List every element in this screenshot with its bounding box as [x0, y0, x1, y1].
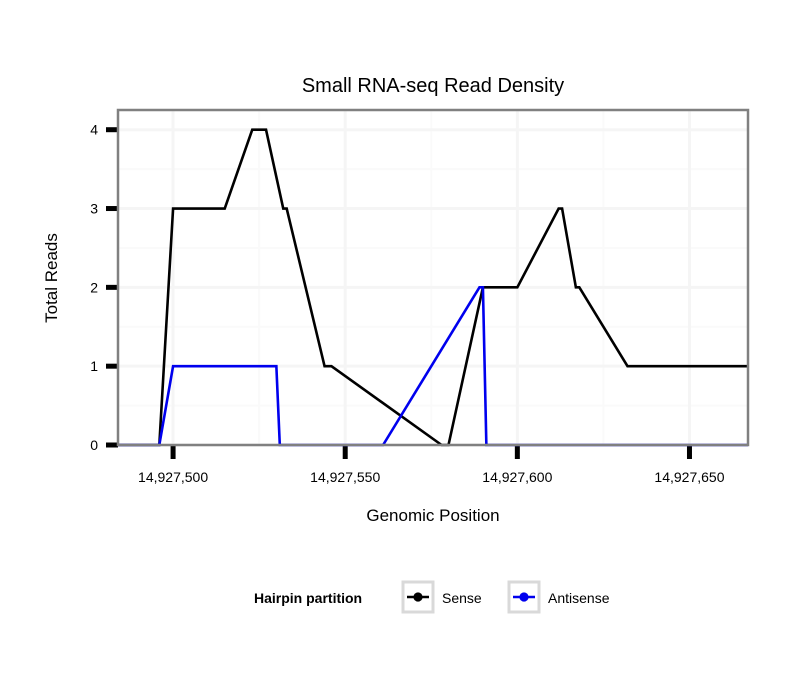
read-density-chart: Small RNA-seq Read Density Total Reads G… — [0, 0, 810, 690]
legend-title: Hairpin partition — [254, 590, 362, 606]
legend-key-point — [413, 592, 422, 601]
y-tick-label: 1 — [90, 358, 98, 374]
x-axis-title: Genomic Position — [366, 506, 499, 525]
y-tick-label: 2 — [90, 279, 98, 295]
x-tick-label: 14,927,650 — [654, 469, 724, 485]
legend-entry-label: Antisense — [548, 590, 610, 606]
chart-legend: Hairpin partition SenseAntisense — [254, 582, 610, 612]
legend-entry-antisense[interactable]: Antisense — [509, 582, 610, 612]
x-tick-label: 14,927,600 — [482, 469, 552, 485]
chart-figure: Small RNA-seq Read Density Total Reads G… — [0, 0, 810, 690]
x-tick-label: 14,927,550 — [310, 469, 380, 485]
x-axis-tick-labels: 14,927,50014,927,55014,927,60014,927,650 — [138, 469, 725, 485]
legend-entry-label: Sense — [442, 590, 482, 606]
legend-entries: SenseAntisense — [403, 582, 610, 612]
y-tick-label: 3 — [90, 201, 98, 217]
legend-key-point — [519, 592, 528, 601]
y-tick-label: 0 — [90, 437, 98, 453]
x-tick-label: 14,927,500 — [138, 469, 208, 485]
chart-title: Small RNA-seq Read Density — [302, 75, 564, 97]
plot-panel-background — [118, 110, 748, 445]
y-tick-label: 4 — [90, 122, 98, 138]
x-axis-ticks — [173, 445, 689, 459]
y-axis-tick-labels: 01234 — [90, 122, 98, 453]
legend-entry-sense[interactable]: Sense — [403, 582, 482, 612]
y-axis-title: Total Reads — [42, 233, 61, 323]
y-axis-ticks — [106, 130, 118, 445]
